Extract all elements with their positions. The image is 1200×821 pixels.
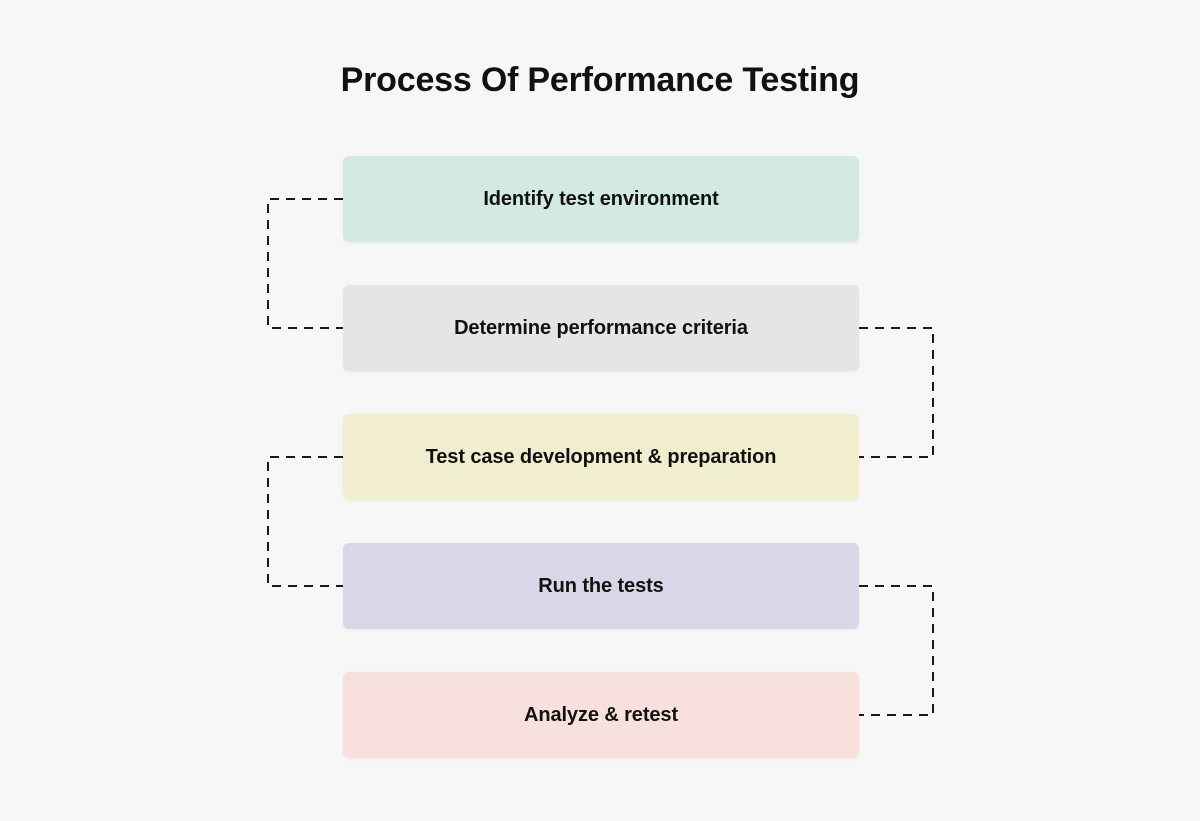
diagram-canvas: Process Of Performance Testing Identify … bbox=[0, 0, 1200, 821]
connector-step1-to-step2 bbox=[268, 199, 343, 328]
process-step-run-the-tests[interactable]: Run the tests bbox=[343, 543, 859, 629]
process-step-label: Determine performance criteria bbox=[454, 315, 748, 341]
connector-step3-to-step4 bbox=[268, 457, 343, 586]
process-step-identify-test-environment[interactable]: Identify test environment bbox=[343, 156, 859, 242]
connector-step2-to-step3 bbox=[859, 328, 933, 457]
process-step-analyze-and-retest[interactable]: Analyze & retest bbox=[343, 672, 859, 758]
process-step-label: Run the tests bbox=[538, 573, 663, 599]
process-step-determine-performance-criteria[interactable]: Determine performance criteria bbox=[343, 285, 859, 371]
process-step-label: Identify test environment bbox=[483, 186, 718, 212]
process-step-label: Analyze & retest bbox=[524, 702, 678, 728]
process-step-test-case-development-and-preparation[interactable]: Test case development & preparation bbox=[343, 414, 859, 500]
connector-step4-to-step5 bbox=[859, 586, 933, 715]
process-step-label: Test case development & preparation bbox=[426, 444, 777, 470]
page-title: Process Of Performance Testing bbox=[0, 58, 1200, 102]
